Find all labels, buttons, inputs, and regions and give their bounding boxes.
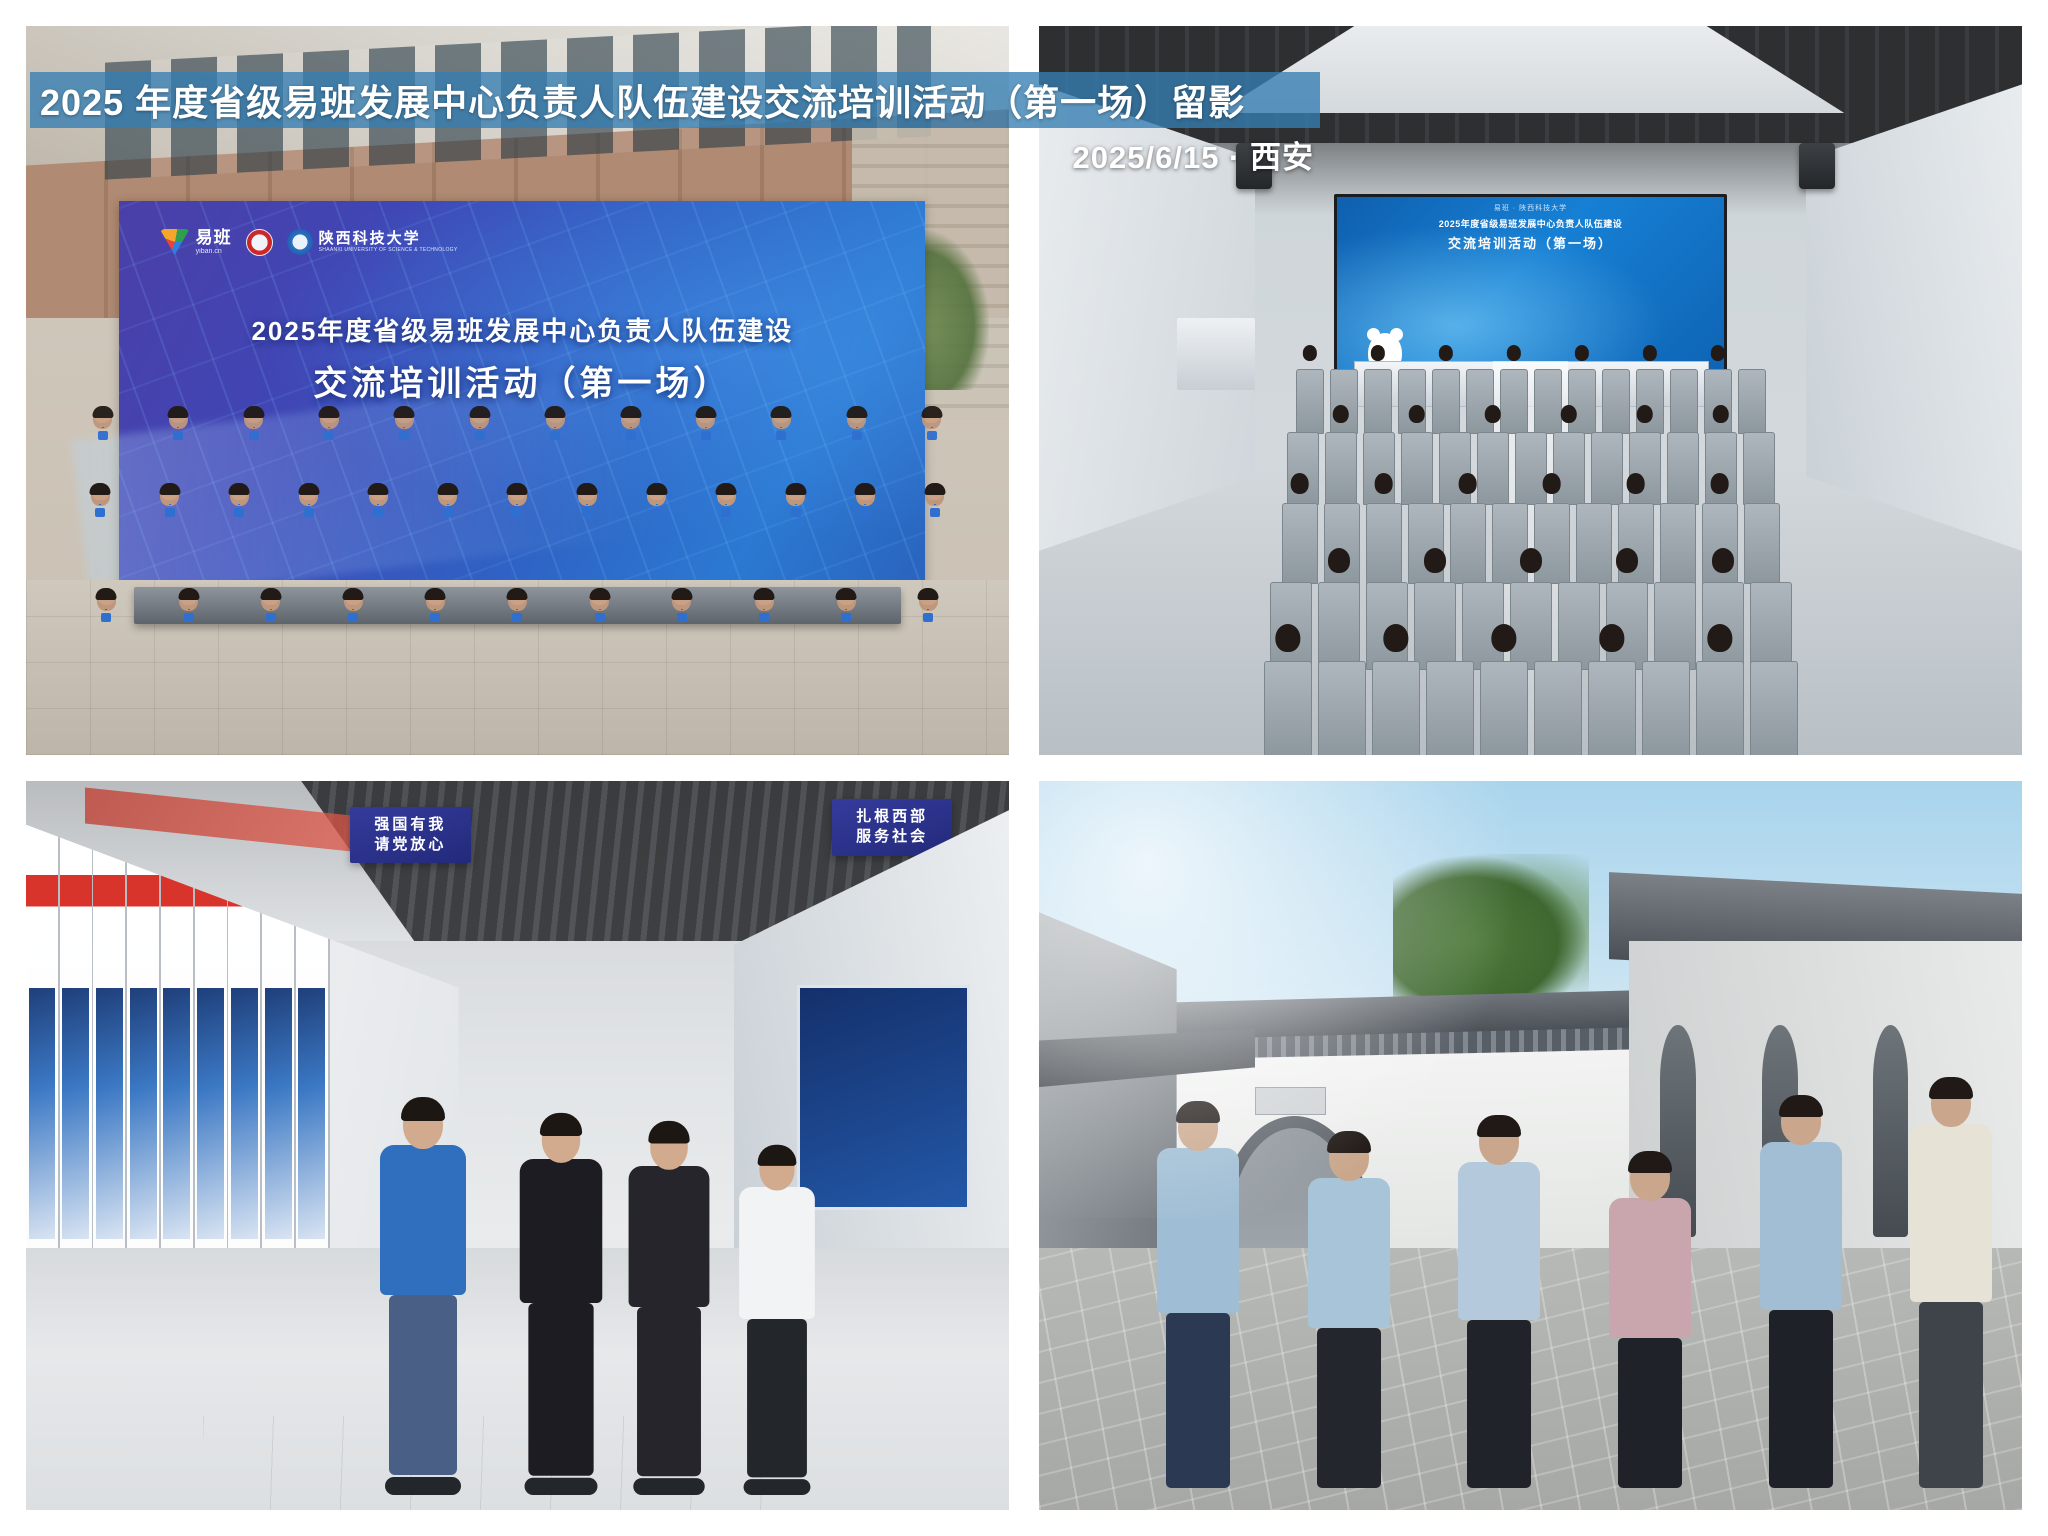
person-silhouette xyxy=(747,589,781,609)
seat-row xyxy=(1059,661,2003,755)
person-hair xyxy=(425,588,446,600)
university-badge-icon xyxy=(287,229,313,255)
sign1-line2: 请党放心 xyxy=(356,835,464,855)
lanyard-badge-icon xyxy=(759,613,769,622)
person-head xyxy=(672,589,691,611)
yiban-mark-icon xyxy=(160,229,190,255)
photo-collage: 易班 yiban.cn 陕西科技大学 SHAANXI UNIVERSITY OF… xyxy=(0,0,2048,1536)
audience-head xyxy=(1275,624,1300,653)
audience-seat xyxy=(1704,369,1732,434)
audience-seat xyxy=(1432,369,1460,434)
visitor-legs xyxy=(637,1307,701,1476)
audience-head xyxy=(1636,405,1653,424)
speaker-right-icon xyxy=(1799,143,1835,189)
panel-photo xyxy=(298,988,325,1239)
audience-seat xyxy=(1492,503,1528,584)
audience-seat xyxy=(1744,503,1780,584)
audience-seat xyxy=(1660,503,1696,584)
visitor-standing xyxy=(1458,1119,1540,1488)
audience-seat xyxy=(1466,369,1494,434)
visitor-hair xyxy=(1477,1115,1521,1137)
audience-seat xyxy=(1534,369,1562,434)
audience-seat xyxy=(1366,503,1402,584)
audience-seat xyxy=(1534,661,1582,755)
visitor-walking xyxy=(519,1117,602,1495)
visitor-torso xyxy=(1458,1162,1540,1320)
audience-seat xyxy=(1510,582,1552,671)
audience-seat xyxy=(1558,582,1600,671)
audience-seat xyxy=(1667,432,1699,505)
visitor-legs xyxy=(1467,1320,1531,1488)
audience-seat xyxy=(1750,661,1798,755)
visitor-legs xyxy=(747,1319,807,1477)
person-hair xyxy=(589,588,610,600)
visitor-torso xyxy=(739,1187,815,1319)
person-hair xyxy=(836,588,857,600)
audience-head xyxy=(1383,624,1408,653)
led-line1: 2025年度省级易班发展中心负责人队伍建设 xyxy=(1439,217,1623,230)
visitor-standing xyxy=(1760,1099,1842,1488)
visitor-head xyxy=(1630,1155,1670,1201)
visitor-hair xyxy=(401,1097,445,1121)
seat-row xyxy=(1059,369,2003,432)
audience-seat xyxy=(1439,432,1471,505)
visitor-hair xyxy=(1779,1095,1823,1117)
panel-photo xyxy=(163,988,190,1239)
audience-seat xyxy=(1364,369,1392,434)
audience-head xyxy=(1328,548,1350,573)
audience-seat xyxy=(1515,432,1547,505)
visitor-head xyxy=(1479,1119,1519,1165)
audience-seat xyxy=(1670,369,1698,434)
audience-seat xyxy=(1534,503,1570,584)
banner-logo-row: 易班 yiban.cn 陕西科技大学 SHAANXI UNIVERSITY OF… xyxy=(160,229,458,256)
audience-head xyxy=(1616,548,1638,573)
visitor-hair xyxy=(1929,1077,1973,1099)
audience-head xyxy=(1520,548,1542,573)
visitor-head xyxy=(403,1101,443,1149)
corridor-floor xyxy=(26,1248,1009,1510)
led-top-line: 易班 · 陕西科技大学 xyxy=(1494,203,1567,213)
audience-head xyxy=(1370,345,1384,361)
visitor-legs xyxy=(528,1303,593,1476)
person-head xyxy=(919,589,938,611)
audience-head xyxy=(1599,624,1624,653)
audience-seat xyxy=(1696,661,1744,755)
person-silhouette xyxy=(254,589,288,609)
people-front-row xyxy=(65,343,969,609)
lanyard-badge-icon xyxy=(101,613,111,622)
audience-seat xyxy=(1318,661,1366,755)
audience-seat xyxy=(1654,582,1696,671)
visitor-walking xyxy=(380,1101,466,1495)
visitor-shoes xyxy=(524,1478,597,1495)
audience-seat xyxy=(1398,369,1426,434)
audience-head xyxy=(1484,405,1501,424)
lanyard-badge-icon xyxy=(841,613,851,622)
audience-seat xyxy=(1576,503,1612,584)
person-hair xyxy=(754,588,775,600)
visitor-legs xyxy=(1317,1328,1381,1488)
audience-head xyxy=(1302,345,1316,361)
university-logo: 陕西科技大学 SHAANXI UNIVERSITY OF SCIENCE & T… xyxy=(287,229,458,255)
person-silhouette xyxy=(500,589,534,609)
person-silhouette xyxy=(89,589,123,609)
person-head xyxy=(179,589,198,611)
photo-courtyard-visit[interactable] xyxy=(1039,781,2022,1510)
visitor-head xyxy=(650,1125,688,1170)
visitor-shoes xyxy=(385,1477,461,1495)
visitor-standing xyxy=(1157,1105,1239,1488)
lanyard-badge-icon xyxy=(348,613,358,622)
visitor-head xyxy=(1781,1099,1821,1145)
panel-photo xyxy=(265,988,292,1239)
panel-photo xyxy=(29,988,56,1239)
person-hair xyxy=(96,588,117,600)
visitor-legs xyxy=(1618,1338,1682,1488)
visitor-torso xyxy=(1609,1198,1691,1338)
visitor-torso xyxy=(628,1166,709,1307)
seat-row xyxy=(1059,582,2003,669)
person-silhouette xyxy=(829,589,863,609)
lanyard-badge-icon xyxy=(512,613,522,622)
audience-head xyxy=(1506,345,1520,361)
lanyard-badge-icon xyxy=(923,613,933,622)
yiban-logo-name: 易班 xyxy=(196,229,232,246)
audience-seat xyxy=(1588,661,1636,755)
visitor-head xyxy=(541,1117,579,1163)
person-head xyxy=(837,589,856,611)
person-head xyxy=(261,589,280,611)
audience-seat xyxy=(1705,432,1737,505)
lanyard-badge-icon xyxy=(266,613,276,622)
person-head xyxy=(590,589,609,611)
audience-head xyxy=(1438,345,1452,361)
visitor-standing xyxy=(1308,1135,1390,1488)
visitor-legs xyxy=(1166,1313,1230,1488)
university-name: 陕西科技大学 xyxy=(319,231,458,248)
audience-seat xyxy=(1264,661,1312,755)
panel-photo xyxy=(62,988,89,1239)
visitor-torso xyxy=(519,1159,602,1303)
audience-head xyxy=(1458,473,1477,494)
audience-seat xyxy=(1414,582,1456,671)
audience-seat xyxy=(1636,369,1664,434)
person-head xyxy=(755,589,774,611)
audience-seat xyxy=(1282,503,1318,584)
person-hair xyxy=(671,588,692,600)
led-line2: 交流培训活动（第一场） xyxy=(1448,233,1613,252)
right-display-board xyxy=(797,985,970,1210)
audience-seat xyxy=(1743,432,1775,505)
audience-head xyxy=(1710,473,1729,494)
panel-photo xyxy=(130,988,157,1239)
visitor-torso xyxy=(1910,1124,1992,1302)
visitor-hair xyxy=(757,1145,796,1166)
photo-corridor-exhibition[interactable]: 强国有我 请党放心 扎根西部 服务社会 xyxy=(26,781,1009,1510)
audience-head xyxy=(1712,405,1729,424)
visitor-torso xyxy=(1760,1142,1842,1310)
audience-head xyxy=(1642,345,1656,361)
seat-row xyxy=(1059,432,2003,503)
visitor-head xyxy=(1329,1135,1369,1181)
yiban-logo: 易班 yiban.cn xyxy=(160,229,232,255)
led-screen: 易班 · 陕西科技大学 2025年度省级易班发展中心负责人队伍建设 交流培训活动… xyxy=(1334,194,1727,384)
visitor-head xyxy=(1178,1105,1218,1151)
visitor-torso xyxy=(1308,1178,1390,1328)
sign2-line1: 扎根西部 xyxy=(838,807,946,827)
visitor-walking xyxy=(628,1125,709,1495)
audience-seat xyxy=(1363,432,1395,505)
person-silhouette xyxy=(911,589,945,609)
lanyard-badge-icon xyxy=(184,613,194,622)
audience-head xyxy=(1332,405,1349,424)
audience-seat xyxy=(1738,369,1766,434)
seal-icon xyxy=(246,229,273,256)
visitor-standing xyxy=(1609,1155,1691,1488)
audience-head xyxy=(1374,473,1393,494)
person-silhouette xyxy=(583,589,617,609)
visitor-hair xyxy=(1628,1151,1672,1173)
audience-seat xyxy=(1296,369,1324,434)
visitor-hair xyxy=(539,1113,581,1136)
audience-seat xyxy=(1477,432,1509,505)
sign1-line1: 强国有我 xyxy=(356,815,464,835)
person-hair xyxy=(918,588,939,600)
audience-seat xyxy=(1325,432,1357,505)
audience-head xyxy=(1707,624,1732,653)
visitor-legs xyxy=(1919,1302,1983,1488)
visitor-hair xyxy=(1176,1101,1220,1123)
panel-photo xyxy=(231,988,258,1239)
visitor-head xyxy=(1931,1081,1971,1127)
audience-head xyxy=(1408,405,1425,424)
person-hair xyxy=(178,588,199,600)
audience-head xyxy=(1290,473,1309,494)
visitor-hair xyxy=(1327,1131,1371,1153)
audience-seat xyxy=(1568,369,1596,434)
visitor-head xyxy=(759,1149,794,1191)
lanyard-badge-icon xyxy=(595,613,605,622)
audience-seat xyxy=(1500,369,1528,434)
audience-seat xyxy=(1591,432,1623,505)
person-head xyxy=(426,589,445,611)
visitor-standing xyxy=(1910,1081,1992,1488)
group-of-people xyxy=(65,259,969,609)
person-head xyxy=(97,589,116,611)
person-silhouette xyxy=(172,589,206,609)
audience-head xyxy=(1491,624,1516,653)
person-hair xyxy=(507,588,528,600)
person-silhouette xyxy=(336,589,370,609)
audience-head xyxy=(1626,473,1645,494)
audience-head xyxy=(1574,345,1588,361)
visitor-shoes xyxy=(633,1479,704,1496)
sign2-line2: 服务社会 xyxy=(838,827,946,847)
audience-head xyxy=(1560,405,1577,424)
visitor-torso xyxy=(1157,1148,1239,1313)
sign-strong-country: 强国有我 请党放心 xyxy=(350,807,470,864)
audience-seat xyxy=(1372,661,1420,755)
visitor-hair xyxy=(648,1121,689,1144)
title-overlay-band: 2025 年度省级易班发展中心负责人队伍建设交流培训活动（第一场）留影 xyxy=(30,72,1320,128)
person-silhouette xyxy=(665,589,699,609)
visitor-legs xyxy=(389,1295,457,1475)
visitor-torso xyxy=(380,1145,466,1295)
audience-seat xyxy=(1318,582,1360,671)
audience-seat xyxy=(1287,432,1319,505)
panel-photo xyxy=(96,988,123,1239)
audience-seating xyxy=(1059,361,2003,755)
audience-seat xyxy=(1480,661,1528,755)
audience-head xyxy=(1424,548,1446,573)
audience-seat xyxy=(1602,369,1630,434)
panel-photo xyxy=(197,988,224,1239)
audience-seat xyxy=(1401,432,1433,505)
audience-seat xyxy=(1642,661,1690,755)
visitor-walking xyxy=(739,1149,815,1496)
visitor-group xyxy=(1157,1109,1993,1488)
audience-head xyxy=(1542,473,1561,494)
audience-seat xyxy=(1629,432,1661,505)
page-title: 2025 年度省级易班发展中心负责人队伍建设交流培训活动（第一场）留影 xyxy=(40,74,1245,126)
audience-seat xyxy=(1426,661,1474,755)
yiban-logo-domain: yiban.cn xyxy=(196,248,232,255)
university-name-en: SHAANXI UNIVERSITY OF SCIENCE & TECHNOLO… xyxy=(319,248,458,254)
person-silhouette xyxy=(418,589,452,609)
person-head xyxy=(508,589,527,611)
visitor-legs xyxy=(1769,1310,1833,1488)
audience-seat xyxy=(1450,503,1486,584)
person-hair xyxy=(260,588,281,600)
audience-seat xyxy=(1750,582,1792,671)
courtyard-tree xyxy=(1393,854,1590,1014)
lanyard-badge-icon xyxy=(677,613,687,622)
visitor-shoes xyxy=(743,1480,810,1496)
audience-head xyxy=(1710,345,1724,361)
lanyard-badge-icon xyxy=(430,613,440,622)
person-hair xyxy=(343,588,364,600)
date-location-label: 2025/6/15 · 西安 xyxy=(30,132,1320,177)
audience-seat xyxy=(1553,432,1585,505)
audience-seat xyxy=(1330,369,1358,434)
person-head xyxy=(344,589,363,611)
audience-head xyxy=(1712,548,1734,573)
